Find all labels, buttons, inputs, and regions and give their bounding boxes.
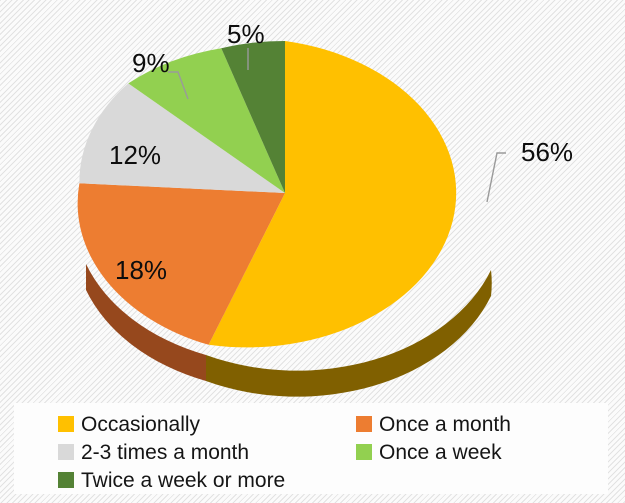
data-label-occasionally: 56% bbox=[521, 139, 573, 165]
chart-legend: Occasionally Once a month 2-3 times a mo… bbox=[14, 403, 608, 494]
legend-row: 2-3 times a month Once a week bbox=[14, 438, 608, 466]
legend-item-2-3-times-a-month[interactable]: 2-3 times a month bbox=[14, 442, 344, 463]
legend-swatch-icon bbox=[58, 472, 74, 488]
pie-graphic bbox=[0, 0, 625, 400]
pie-chart: 56% 18% 12% 9% 5% Occasionally Once a mo… bbox=[0, 0, 625, 503]
legend-swatch-icon bbox=[356, 416, 372, 432]
legend-label: Once a month bbox=[379, 414, 511, 435]
plot-area: 56% 18% 12% 9% 5% bbox=[0, 0, 625, 400]
legend-item-once-a-month[interactable]: Once a month bbox=[344, 414, 604, 435]
legend-swatch-icon bbox=[58, 444, 74, 460]
data-label-once-a-week: 9% bbox=[132, 50, 170, 76]
pie-top-face bbox=[78, 41, 457, 347]
legend-item-occasionally[interactable]: Occasionally bbox=[14, 414, 344, 435]
legend-item-once-a-week[interactable]: Once a week bbox=[344, 442, 604, 463]
legend-label: Once a week bbox=[379, 442, 502, 463]
leader-line-56 bbox=[487, 153, 506, 202]
legend-label: Twice a week or more bbox=[81, 470, 285, 491]
data-label-2-3-times-a-month: 12% bbox=[109, 142, 161, 168]
legend-item-twice-a-week-or-more[interactable]: Twice a week or more bbox=[14, 470, 344, 491]
legend-swatch-icon bbox=[58, 416, 74, 432]
data-label-twice-a-week-or-more: 5% bbox=[227, 21, 265, 47]
legend-label: 2-3 times a month bbox=[81, 442, 249, 463]
legend-row: Occasionally Once a month bbox=[14, 410, 608, 438]
legend-label: Occasionally bbox=[81, 414, 200, 435]
legend-swatch-icon bbox=[356, 444, 372, 460]
legend-row: Twice a week or more bbox=[14, 466, 608, 494]
pie-side-occasionally-right bbox=[491, 270, 492, 296]
data-label-once-a-month: 18% bbox=[115, 257, 167, 283]
